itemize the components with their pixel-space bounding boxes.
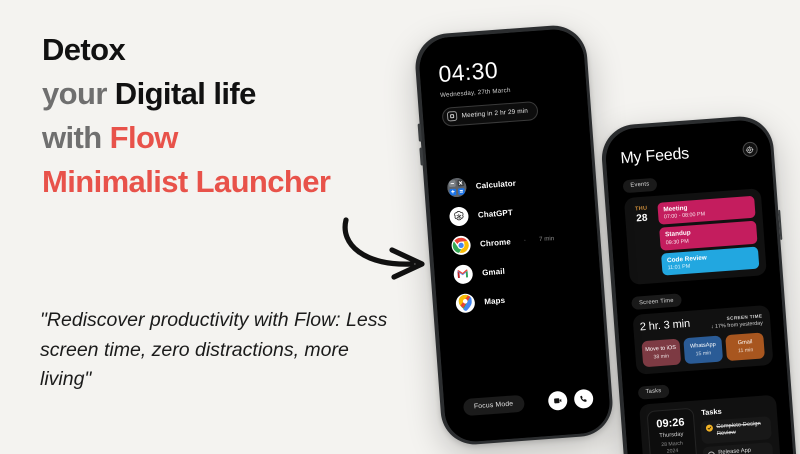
events-day-number: 28 [631, 212, 652, 224]
app-label: Chrome [480, 237, 511, 248]
chrome-icon [450, 235, 470, 255]
volume-down-button[interactable] [419, 148, 423, 166]
phone-feeds-device: My Feeds Events THU [600, 114, 800, 454]
headline-word-detox: Detox [42, 32, 125, 67]
events-card: THU 28 Meeting 07:00 - 08:00 PM Standup … [623, 188, 766, 285]
screen-time-app[interactable]: Move to iOS 38 min [641, 339, 681, 367]
task-text: Complete Design Review [716, 420, 766, 439]
check-icon [706, 425, 711, 430]
camera-icon [552, 395, 562, 405]
screen-time-app-minutes: 38 min [644, 352, 679, 360]
tagline-quote: "Rediscover productivity with Flow: Less… [40, 306, 390, 395]
tasks-list-header: Tasks [701, 403, 769, 417]
meeting-notification-text: Meeting in 2 hr 29 min [461, 107, 528, 119]
launcher-bottom-bar: Focus Mode [462, 388, 593, 416]
app-usage-time: 7 min [539, 235, 555, 243]
phone-icon [578, 394, 588, 404]
phone-feeds-bezel: My Feeds Events THU [603, 118, 796, 454]
app-separator: · [523, 237, 526, 244]
meeting-notification-pill[interactable]: Meeting in 2 hr 29 min [441, 100, 539, 126]
section-chip-events[interactable]: Events [622, 177, 658, 193]
tasks-clock-widget: 09:26 Thursday 28 March 2024 [646, 407, 697, 454]
settings-button[interactable] [742, 141, 758, 157]
event-item[interactable]: Meeting 07:00 - 08:00 PM [657, 195, 755, 225]
gmail-icon [453, 264, 473, 284]
screen-time-card: 2 hr. 3 min SCREEN TIME ↓ 17% from yeste… [632, 305, 773, 374]
event-item[interactable]: Code Review 11:01 PM [661, 246, 759, 276]
phone-button[interactable] [573, 388, 593, 408]
app-label: ChatGPT [478, 208, 514, 220]
feeds-header: My Feeds [620, 140, 758, 168]
screen-time-app[interactable]: Gmail 11 min [725, 332, 765, 360]
headline-word-minimalist-launcher: Minimalist Launcher [42, 164, 330, 199]
headline-line-2: your Digital life [42, 72, 412, 116]
gear-icon [745, 145, 754, 154]
phone-launcher-bezel: 04:30 Wednesday, 27th March Meeting in 2… [417, 27, 611, 443]
quick-action-buttons [547, 388, 593, 410]
app-list: Calculator ChatGPT [446, 164, 588, 318]
task-checkbox-checked-icon[interactable] [705, 424, 712, 431]
headline-line-3: with Flow [42, 116, 412, 160]
camera-button[interactable] [547, 390, 567, 410]
phone-launcher-screen: 04:30 Wednesday, 27th March Meeting in 2… [417, 27, 611, 443]
app-label: Gmail [482, 266, 505, 277]
task-text: Release App [718, 448, 751, 454]
screen-time-total: 2 hr. 3 min [639, 318, 690, 334]
maps-icon [455, 293, 475, 313]
poster-canvas: Detox your Digital life with Flow Minima… [0, 0, 800, 454]
headline-word-with: with [42, 120, 110, 155]
event-item[interactable]: Standup 09:30 PM [659, 221, 757, 251]
phone-feeds-screen: My Feeds Events THU [603, 118, 796, 454]
app-label: Calculator [475, 178, 516, 190]
headline-word-your: your [42, 76, 115, 111]
calculator-icon [446, 177, 466, 197]
calendar-icon [446, 111, 457, 122]
lockscreen-time: 04:30 [438, 53, 566, 85]
section-chip-tasks[interactable]: Tasks [637, 384, 670, 399]
screen-time-app[interactable]: WhatsApp 15 min [683, 335, 723, 363]
screen-time-delta: ↓ 17% from yesterday [711, 320, 763, 330]
volume-up-button[interactable] [418, 124, 422, 142]
task-item[interactable]: Release App [702, 442, 773, 454]
page-title: My Feeds [620, 145, 690, 168]
screen-time-app-list: Move to iOS 38 min WhatsApp 15 min Gmail… [641, 332, 766, 366]
headline-block: Detox your Digital life with Flow Minima… [42, 28, 412, 204]
task-item[interactable]: Complete Design Review [700, 416, 772, 445]
headline-line-1: Detox [42, 28, 412, 72]
tasks-card: 09:26 Thursday 28 March 2024 Tasks [639, 394, 781, 454]
events-list: Meeting 07:00 - 08:00 PM Standup 09:30 P… [657, 195, 759, 275]
chatgpt-icon [448, 206, 468, 226]
screen-time-app-minutes: 15 min [686, 349, 721, 357]
tasks-clock-time: 09:26 [650, 415, 692, 430]
tasks-clock-dow: Thursday [651, 430, 692, 439]
phone-launcher-device: 04:30 Wednesday, 27th March Meeting in 2… [413, 23, 615, 446]
events-date: THU 28 [631, 203, 656, 278]
focus-mode-button[interactable]: Focus Mode [462, 394, 524, 415]
headline-word-flow: Flow [110, 120, 178, 155]
app-label: Maps [484, 295, 505, 306]
screen-time-app-minutes: 11 min [728, 346, 763, 354]
power-button-feeds[interactable] [778, 210, 783, 240]
tasks-list: Tasks Complete Design Review [699, 402, 773, 454]
section-chip-screen-time[interactable]: Screen Time [631, 293, 683, 310]
headline-line-4: Minimalist Launcher [42, 160, 412, 204]
headline-word-digital-life: Digital life [115, 76, 256, 111]
